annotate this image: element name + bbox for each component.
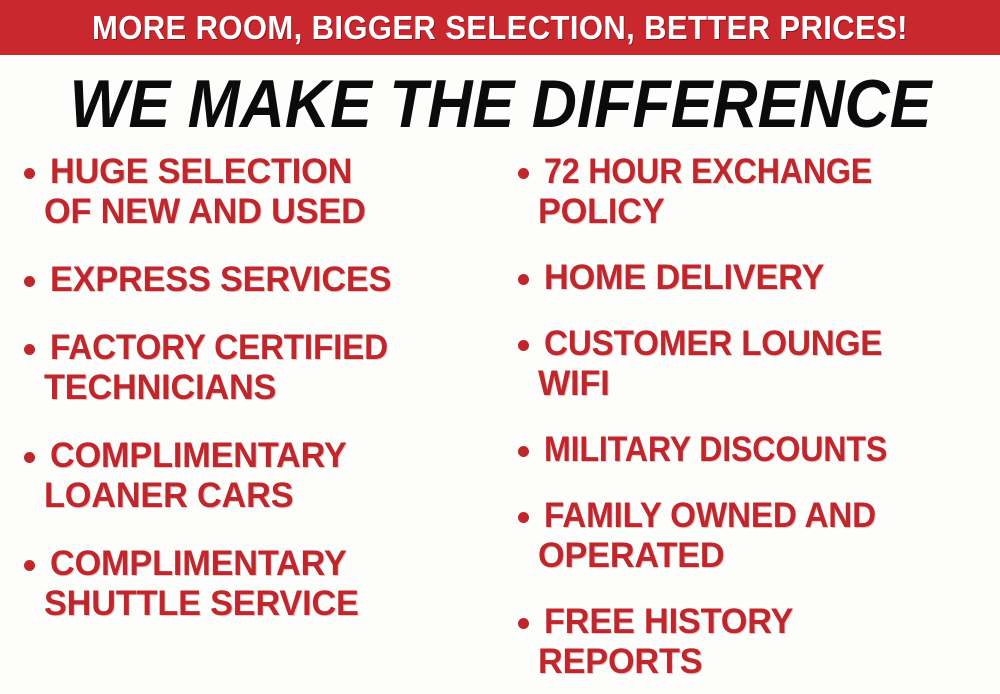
list-item: 72 HOUR EXCHANGE POLICY (508, 152, 1000, 232)
list-item: HOME DELIVERY (508, 258, 1000, 298)
list-item: COMPLIMENTARY LOANER CARS (14, 436, 504, 516)
list-item-line-2: WIFI (538, 364, 991, 404)
benefits-columns: HUGE SELECTION OF NEW AND USED EXPRESS S… (0, 152, 1000, 694)
bullet-dot-icon (518, 168, 529, 179)
list-item: COMPLIMENTARY SHUTTLE SERVICE (14, 544, 504, 624)
list-item-text: 72 HOUR EXCHANGE POLICY (544, 152, 1000, 232)
list-item-line-1: HOME DELIVERY (544, 258, 991, 298)
bullet-dot-icon (518, 274, 529, 285)
list-item: EXPRESS SERVICES (14, 260, 504, 300)
bullet-dot-icon (24, 452, 35, 463)
benefits-column-left: HUGE SELECTION OF NEW AND USED EXPRESS S… (14, 152, 504, 694)
list-item-text: MILITARY DISCOUNTS (544, 430, 1000, 470)
list-item-line-1: CUSTOMER LOUNGE (544, 324, 977, 364)
list-item-line-2: OPERATED (538, 536, 991, 576)
list-item-text: HOME DELIVERY (544, 258, 1000, 298)
top-banner: MORE ROOM, BIGGER SELECTION, BETTER PRIC… (0, 0, 1000, 55)
list-item-line-1: COMPLIMENTARY (50, 544, 495, 584)
list-item-line-2: LOANER CARS (44, 476, 495, 516)
list-item-line-2: OF NEW AND USED (44, 192, 495, 232)
list-item: HUGE SELECTION OF NEW AND USED (14, 152, 504, 232)
list-item-line-1: MILITARY DISCOUNTS (544, 430, 964, 470)
benefits-column-right: 72 HOUR EXCHANGE POLICY HOME DELIVERY CU… (508, 152, 1000, 694)
list-item-line-2: POLICY (538, 192, 991, 232)
list-item-text: FAMILY OWNED AND OPERATED (544, 496, 1000, 576)
list-item-line-1: FACTORY CERTIFIED (50, 328, 481, 368)
list-item: CUSTOMER LOUNGE WIFI (508, 324, 1000, 404)
list-item-line-1: EXPRESS SERVICES (50, 260, 495, 300)
headline-container: WE MAKE THE DIFFERENCE (0, 58, 1000, 150)
bullet-dot-icon (518, 512, 529, 523)
list-item-line-1: FREE HISTORY (544, 602, 991, 642)
list-item-text: HUGE SELECTION OF NEW AND USED (50, 152, 504, 232)
list-item-text: FREE HISTORY REPORTS (544, 602, 1000, 682)
list-item: FREE HISTORY REPORTS (508, 602, 1000, 682)
bullet-dot-icon (24, 560, 35, 571)
list-item-line-2: TECHNICIANS (44, 368, 495, 408)
list-item-line-2: REPORTS (538, 642, 991, 682)
list-item-text: COMPLIMENTARY SHUTTLE SERVICE (50, 544, 504, 624)
list-item-line-1: 72 HOUR EXCHANGE (544, 152, 964, 192)
bullet-dot-icon (24, 276, 35, 287)
list-item-text: CUSTOMER LOUNGE WIFI (544, 324, 1000, 404)
list-item-text: FACTORY CERTIFIED TECHNICIANS (50, 328, 504, 408)
list-item-line-1: FAMILY OWNED AND (544, 496, 977, 536)
list-item: FAMILY OWNED AND OPERATED (508, 496, 1000, 576)
page-title: WE MAKE THE DIFFERENCE (69, 70, 931, 138)
list-item-line-1: HUGE SELECTION (50, 152, 495, 192)
poster-canvas: MORE ROOM, BIGGER SELECTION, BETTER PRIC… (0, 0, 1000, 694)
bullet-dot-icon (24, 344, 35, 355)
bullet-dot-icon (518, 340, 529, 351)
list-item-line-2: SHUTTLE SERVICE (44, 584, 495, 624)
list-item-text: EXPRESS SERVICES (50, 260, 504, 300)
list-item: FACTORY CERTIFIED TECHNICIANS (14, 328, 504, 408)
list-item-text: COMPLIMENTARY LOANER CARS (50, 436, 504, 516)
list-item: MILITARY DISCOUNTS (508, 430, 1000, 470)
top-banner-text: MORE ROOM, BIGGER SELECTION, BETTER PRIC… (92, 11, 908, 44)
list-item-line-1: COMPLIMENTARY (50, 436, 495, 476)
bullet-dot-icon (518, 618, 529, 629)
bullet-dot-icon (24, 168, 35, 179)
bullet-dot-icon (518, 446, 529, 457)
